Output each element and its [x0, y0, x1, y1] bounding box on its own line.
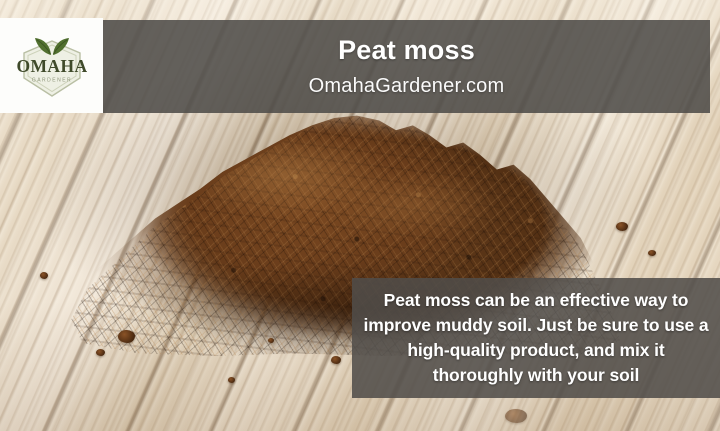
- peat-crumb: [96, 349, 105, 356]
- logo-tagline: GARDENER: [31, 77, 71, 83]
- caption-overlay: Peat moss can be an effective way to imp…: [352, 278, 720, 398]
- peat-crumb: [40, 272, 48, 279]
- site-url: OmahaGardener.com: [309, 76, 505, 96]
- logo-panel: OMAHA GARDENER: [0, 18, 103, 113]
- omaha-gardener-logo: OMAHA GARDENER: [10, 28, 94, 104]
- wood-knot: [505, 409, 527, 423]
- peat-crumb: [228, 377, 235, 383]
- peat-crumb: [268, 338, 274, 343]
- infographic-canvas: OMAHA GARDENER Peat moss OmahaGardener.c…: [0, 0, 720, 431]
- peat-crumb: [648, 250, 656, 256]
- caption-text: Peat moss can be an effective way to imp…: [362, 288, 710, 387]
- peat-crumb: [118, 330, 135, 343]
- peat-crumb: [331, 356, 341, 364]
- page-title: Peat moss: [338, 37, 475, 64]
- peat-crumb: [616, 222, 628, 231]
- header-banner: Peat moss OmahaGardener.com: [103, 20, 710, 113]
- logo-wordmark: OMAHA: [16, 56, 87, 76]
